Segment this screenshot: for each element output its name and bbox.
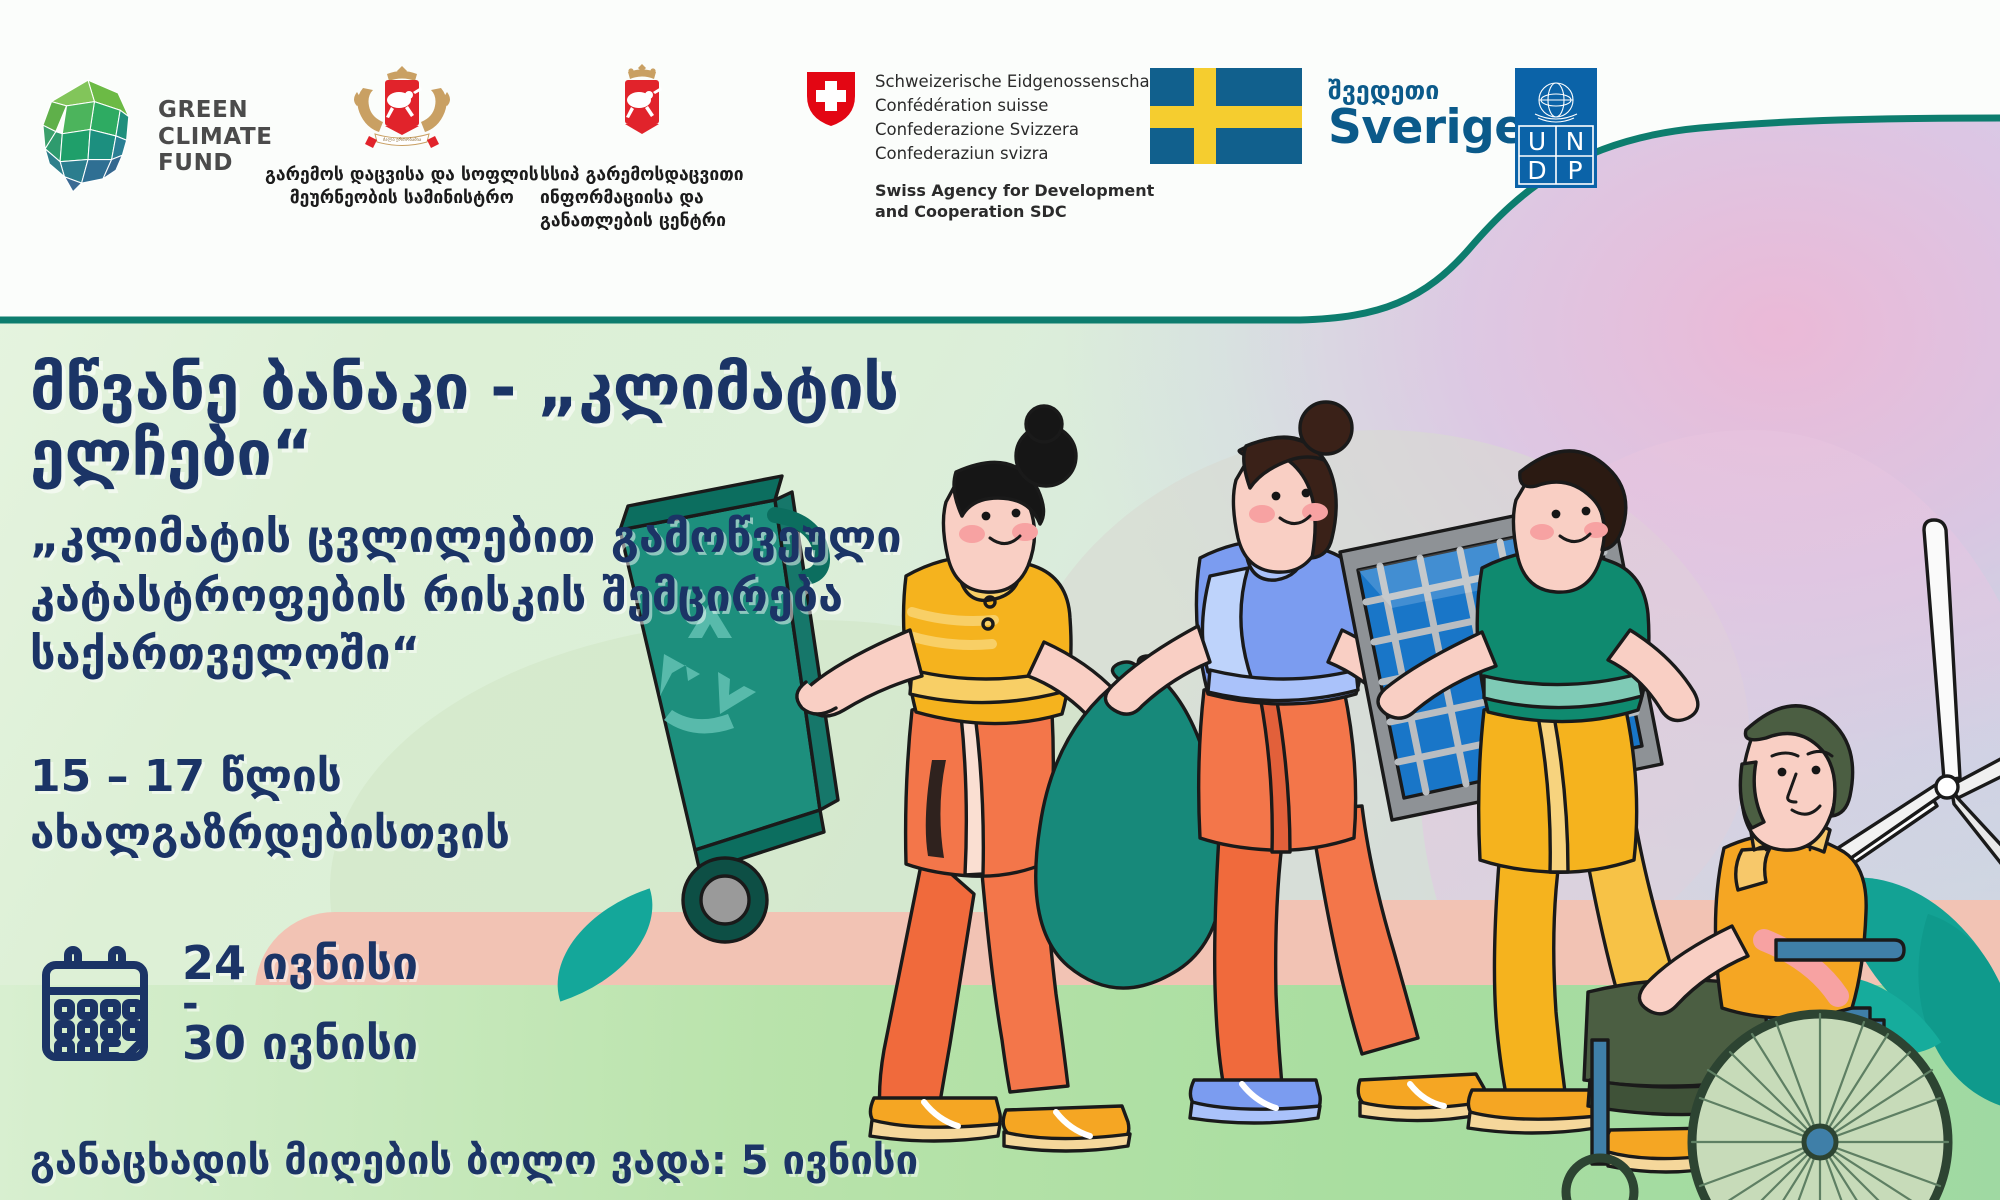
swiss-line-it: Confederazione Svizzera xyxy=(875,118,1162,142)
date-block: 24 ივნისი - 30 ივნისი xyxy=(34,938,418,1069)
georgia-shield-icon xyxy=(614,62,670,154)
audience-line-2: ახალგაზრდებისთვის xyxy=(30,805,1160,862)
logo-ministry-environment: ძალა ერთობაშია გარემოს დაცვისა და სოფლის… xyxy=(265,62,539,210)
main-copy-block: მწვანე ბანაკი - „კლიმატის ელჩები“ „კლიმა… xyxy=(30,355,1160,862)
gcf-line-1: GREEN xyxy=(158,97,273,124)
swiss-line-rm: Confederaziun svizra xyxy=(875,142,1162,166)
georgia-coat-of-arms-full-icon: ძალა ერთობაშია xyxy=(343,62,461,154)
centre-line-2: ინფორმაციისა და xyxy=(540,187,744,210)
undp-letter-d: D xyxy=(1527,156,1546,185)
centre-name: სსიპ გარემოსდაცვითი ინფორმაციისა და განა… xyxy=(540,164,744,233)
centre-line-1: სსიპ გარემოსდაცვითი xyxy=(540,164,744,187)
gcf-wordmark: GREEN CLIMATE FUND xyxy=(158,97,273,178)
swiss-cross-shield-icon xyxy=(805,70,857,128)
ministry-line-2: მეურნეობის სამინისტრო xyxy=(265,187,539,210)
swiss-agency-lines: Swiss Agency for Development and Coopera… xyxy=(875,180,1162,223)
gcf-line-2: CLIMATE xyxy=(158,124,273,151)
audience-text: 15 – 17 წლის ახალგაზრდებისთვის xyxy=(30,748,1160,862)
logo-green-climate-fund: GREEN CLIMATE FUND xyxy=(34,78,273,196)
sweden-wordmark: შვედეთი Sverige xyxy=(1328,78,1526,154)
date-separator: - xyxy=(182,990,418,1018)
undp-logo-icon: U N D P xyxy=(1515,68,1597,188)
ministry-line-1: გარემოს დაცვისა და სოფლის xyxy=(265,164,539,187)
centre-line-3: განათლების ცენტრი xyxy=(540,210,744,233)
poster-root: GREEN CLIMATE FUND xyxy=(0,0,2000,1200)
undp-letter-n: N xyxy=(1566,127,1585,156)
logo-swiss-sdc: Schweizerische Eidgenossenschaft Confédé… xyxy=(805,70,1162,223)
ministry-name: გარემოს დაცვისა და სოფლის მეურნეობის სამ… xyxy=(265,164,539,210)
date-range: 24 ივნისი - 30 ივნისი xyxy=(182,938,418,1069)
undp-letter-u: U xyxy=(1528,127,1546,156)
logo-undp: U N D P xyxy=(1515,68,1597,188)
date-end: 30 ივნისი xyxy=(182,1018,418,1070)
application-deadline: განაცხადის მიღების ბოლო ვადა: 5 ივნისი xyxy=(30,1138,918,1184)
swiss-wordmark: Schweizerische Eidgenossenschaft Confédé… xyxy=(875,70,1162,223)
swiss-line-de: Schweizerische Eidgenossenschaft xyxy=(875,70,1162,94)
svg-text:ძალა ერთობაშია: ძალა ერთობაშია xyxy=(383,136,422,143)
subtitle-line-3: საქართველოში“ xyxy=(30,625,1160,684)
calendar-icon xyxy=(34,943,156,1065)
swiss-agency-line-2: and Cooperation SDC xyxy=(875,202,1067,221)
gcf-globe-icon xyxy=(34,78,142,196)
audience-line-1: 15 – 17 წლის xyxy=(30,748,1160,805)
logo-environmental-centre: სსიპ გარემოსდაცვითი ინფორმაციისა და განა… xyxy=(540,62,744,233)
page-title: მწვანე ბანაკი - „კლიმატის ელჩები“ xyxy=(30,355,1160,486)
sweden-flag-icon xyxy=(1150,68,1302,164)
subtitle-line-2: კატასტროფების რისკის შემცირება xyxy=(30,567,1160,626)
swiss-line-fr: Confédération suisse xyxy=(875,94,1162,118)
swiss-agency-line-1: Swiss Agency for Development xyxy=(875,181,1154,200)
gcf-line-3: FUND xyxy=(158,150,273,177)
logo-sweden: შვედეთი Sverige xyxy=(1150,68,1526,164)
date-start: 24 ივნისი xyxy=(182,938,418,990)
subtitle-line-1: „კლიმატის ცვლილებით გამოწვეული xyxy=(30,508,1160,567)
undp-letter-p: P xyxy=(1567,156,1582,185)
page-subtitle: „კლიმატის ცვლილებით გამოწვეული კატასტროფ… xyxy=(30,508,1160,684)
sweden-label-sv: Sverige xyxy=(1328,103,1526,154)
